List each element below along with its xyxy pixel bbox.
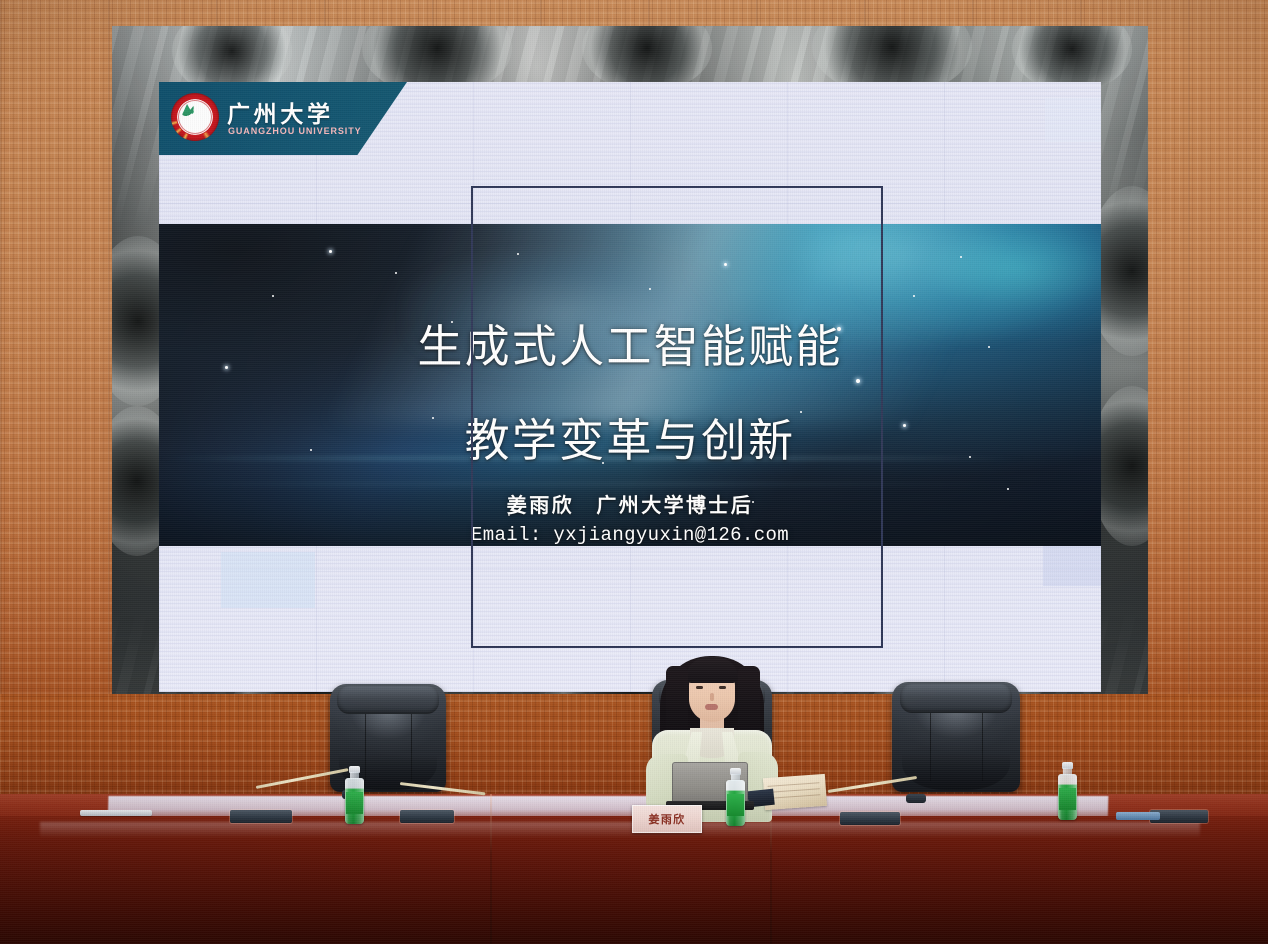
paper-line xyxy=(768,788,820,793)
star xyxy=(913,295,915,297)
university-name-en: GUANGZHOU UNIVERSITY xyxy=(228,126,362,136)
chair-right xyxy=(892,682,1020,792)
led-tile-bright-c xyxy=(1045,98,1101,142)
presenter-nose xyxy=(710,693,714,701)
led-tile-bright-a xyxy=(221,552,315,608)
lower-wall-strip xyxy=(0,694,1268,802)
desk-inset-panel[interactable] xyxy=(400,810,454,823)
presentation-screen: 生成式人工智能赋能 教学变革与创新 姜雨欣 广州大学博士后 Email: yxj… xyxy=(112,26,1148,708)
slide-surface: 生成式人工智能赋能 教学变革与创新 姜雨欣 广州大学博士后 Email: yxj… xyxy=(159,82,1101,692)
desk-inset-panel[interactable] xyxy=(840,812,900,825)
desk-secondary-glare xyxy=(40,822,1200,838)
nameplate-text: 姜雨欣 xyxy=(649,811,686,827)
bottle-label xyxy=(346,792,363,814)
chair-left xyxy=(330,684,446,792)
desk-blue-marker xyxy=(1116,812,1160,820)
university-crest-icon xyxy=(171,93,219,141)
bottle-label xyxy=(1059,788,1076,810)
paper-line xyxy=(768,782,820,787)
presenter-nameplate: 姜雨欣 xyxy=(632,805,702,833)
bottle-label xyxy=(727,794,744,816)
presenter-hair-top xyxy=(686,657,738,683)
slide-decorative-frame xyxy=(471,186,883,648)
star xyxy=(329,250,332,253)
paper-line xyxy=(768,794,820,799)
chair-lower-shadow xyxy=(902,752,1010,789)
presenter-eye-right xyxy=(719,686,726,689)
desk-joint-seam xyxy=(490,794,492,944)
chair-headrest xyxy=(337,686,439,714)
microphone-base-center xyxy=(906,794,926,803)
chair-headrest xyxy=(900,684,1013,713)
presenter-mouth xyxy=(705,704,718,710)
university-name-cn: 广州大学 xyxy=(227,95,334,129)
presenter-eye-left xyxy=(696,686,703,689)
desk-pen-tray xyxy=(80,810,152,816)
desk-inset-panel[interactable] xyxy=(230,810,292,823)
star xyxy=(272,295,274,297)
lower-wall-perforation xyxy=(0,694,1268,802)
star xyxy=(960,256,962,258)
lecture-hall-scene: 生成式人工智能赋能 教学变革与创新 姜雨欣 广州大学博士后 Email: yxj… xyxy=(0,0,1268,944)
